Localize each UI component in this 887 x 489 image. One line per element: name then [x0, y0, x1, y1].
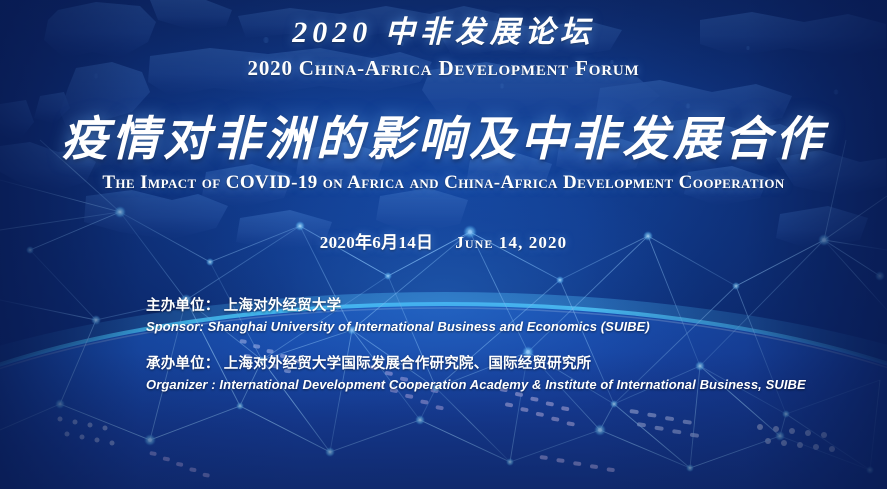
event-date: 2020年6月14日June 14, 2020 [0, 228, 887, 253]
poster-title-english: The Impact of COVID-19 on Africa and Chi… [0, 172, 887, 194]
poster-content: 2020 中非发展论坛 2020 China-Africa Developmen… [0, 0, 887, 489]
organizer-line-chinese: 承办单位： 上海对外经贸大学国际发展合作研究院、国际经贸研究所 [146, 354, 806, 375]
sponsor-line-chinese: 主办单位： 上海对外经贸大学 [146, 296, 806, 317]
organizer-block: 承办单位： 上海对外经贸大学国际发展合作研究院、国际经贸研究所 Organize… [146, 354, 806, 395]
sponsor-line-english: Sponsor: Shanghai University of Internat… [146, 317, 806, 337]
organizer-line-english: Organizer : International Development Co… [146, 375, 806, 395]
credits-block: 主办单位： 上海对外经贸大学 Sponsor: Shanghai Univers… [146, 296, 806, 394]
sponsor-block: 主办单位： 上海对外经贸大学 Sponsor: Shanghai Univers… [146, 296, 806, 337]
forum-name-chinese: 2020 中非发展论坛 [0, 7, 887, 51]
event-date-english: June 14, 2020 [455, 233, 567, 252]
poster-title-chinese: 疫情对非洲的影响及中非发展合作 [0, 100, 887, 169]
conference-poster: 2020 中非发展论坛 2020 China-Africa Developmen… [0, 0, 887, 489]
event-date-chinese: 2020年6月14日 [320, 233, 434, 252]
forum-name-english: 2020 China-Africa Development Forum [0, 56, 887, 81]
